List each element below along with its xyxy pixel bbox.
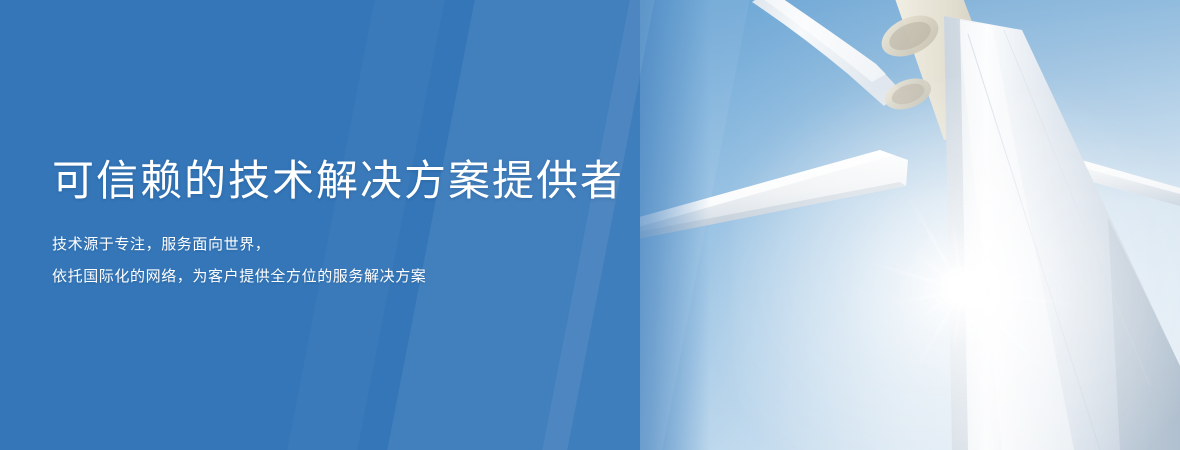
banner-subline-2: 依托国际化的网络，为客户提供全方位的服务解决方案 xyxy=(52,261,624,293)
banner-text-block: 可信赖的技术解决方案提供者 技术源于专注，服务面向世界， 依托国际化的网络，为客… xyxy=(52,0,624,450)
banner-subline-1: 技术源于专注，服务面向世界， xyxy=(52,229,624,261)
hero-banner: 可信赖的技术解决方案提供者 技术源于专注，服务面向世界， 依托国际化的网络，为客… xyxy=(0,0,1180,450)
banner-headline: 可信赖的技术解决方案提供者 xyxy=(52,157,624,205)
sun-core xyxy=(940,266,984,310)
sun-halo xyxy=(732,78,1180,450)
